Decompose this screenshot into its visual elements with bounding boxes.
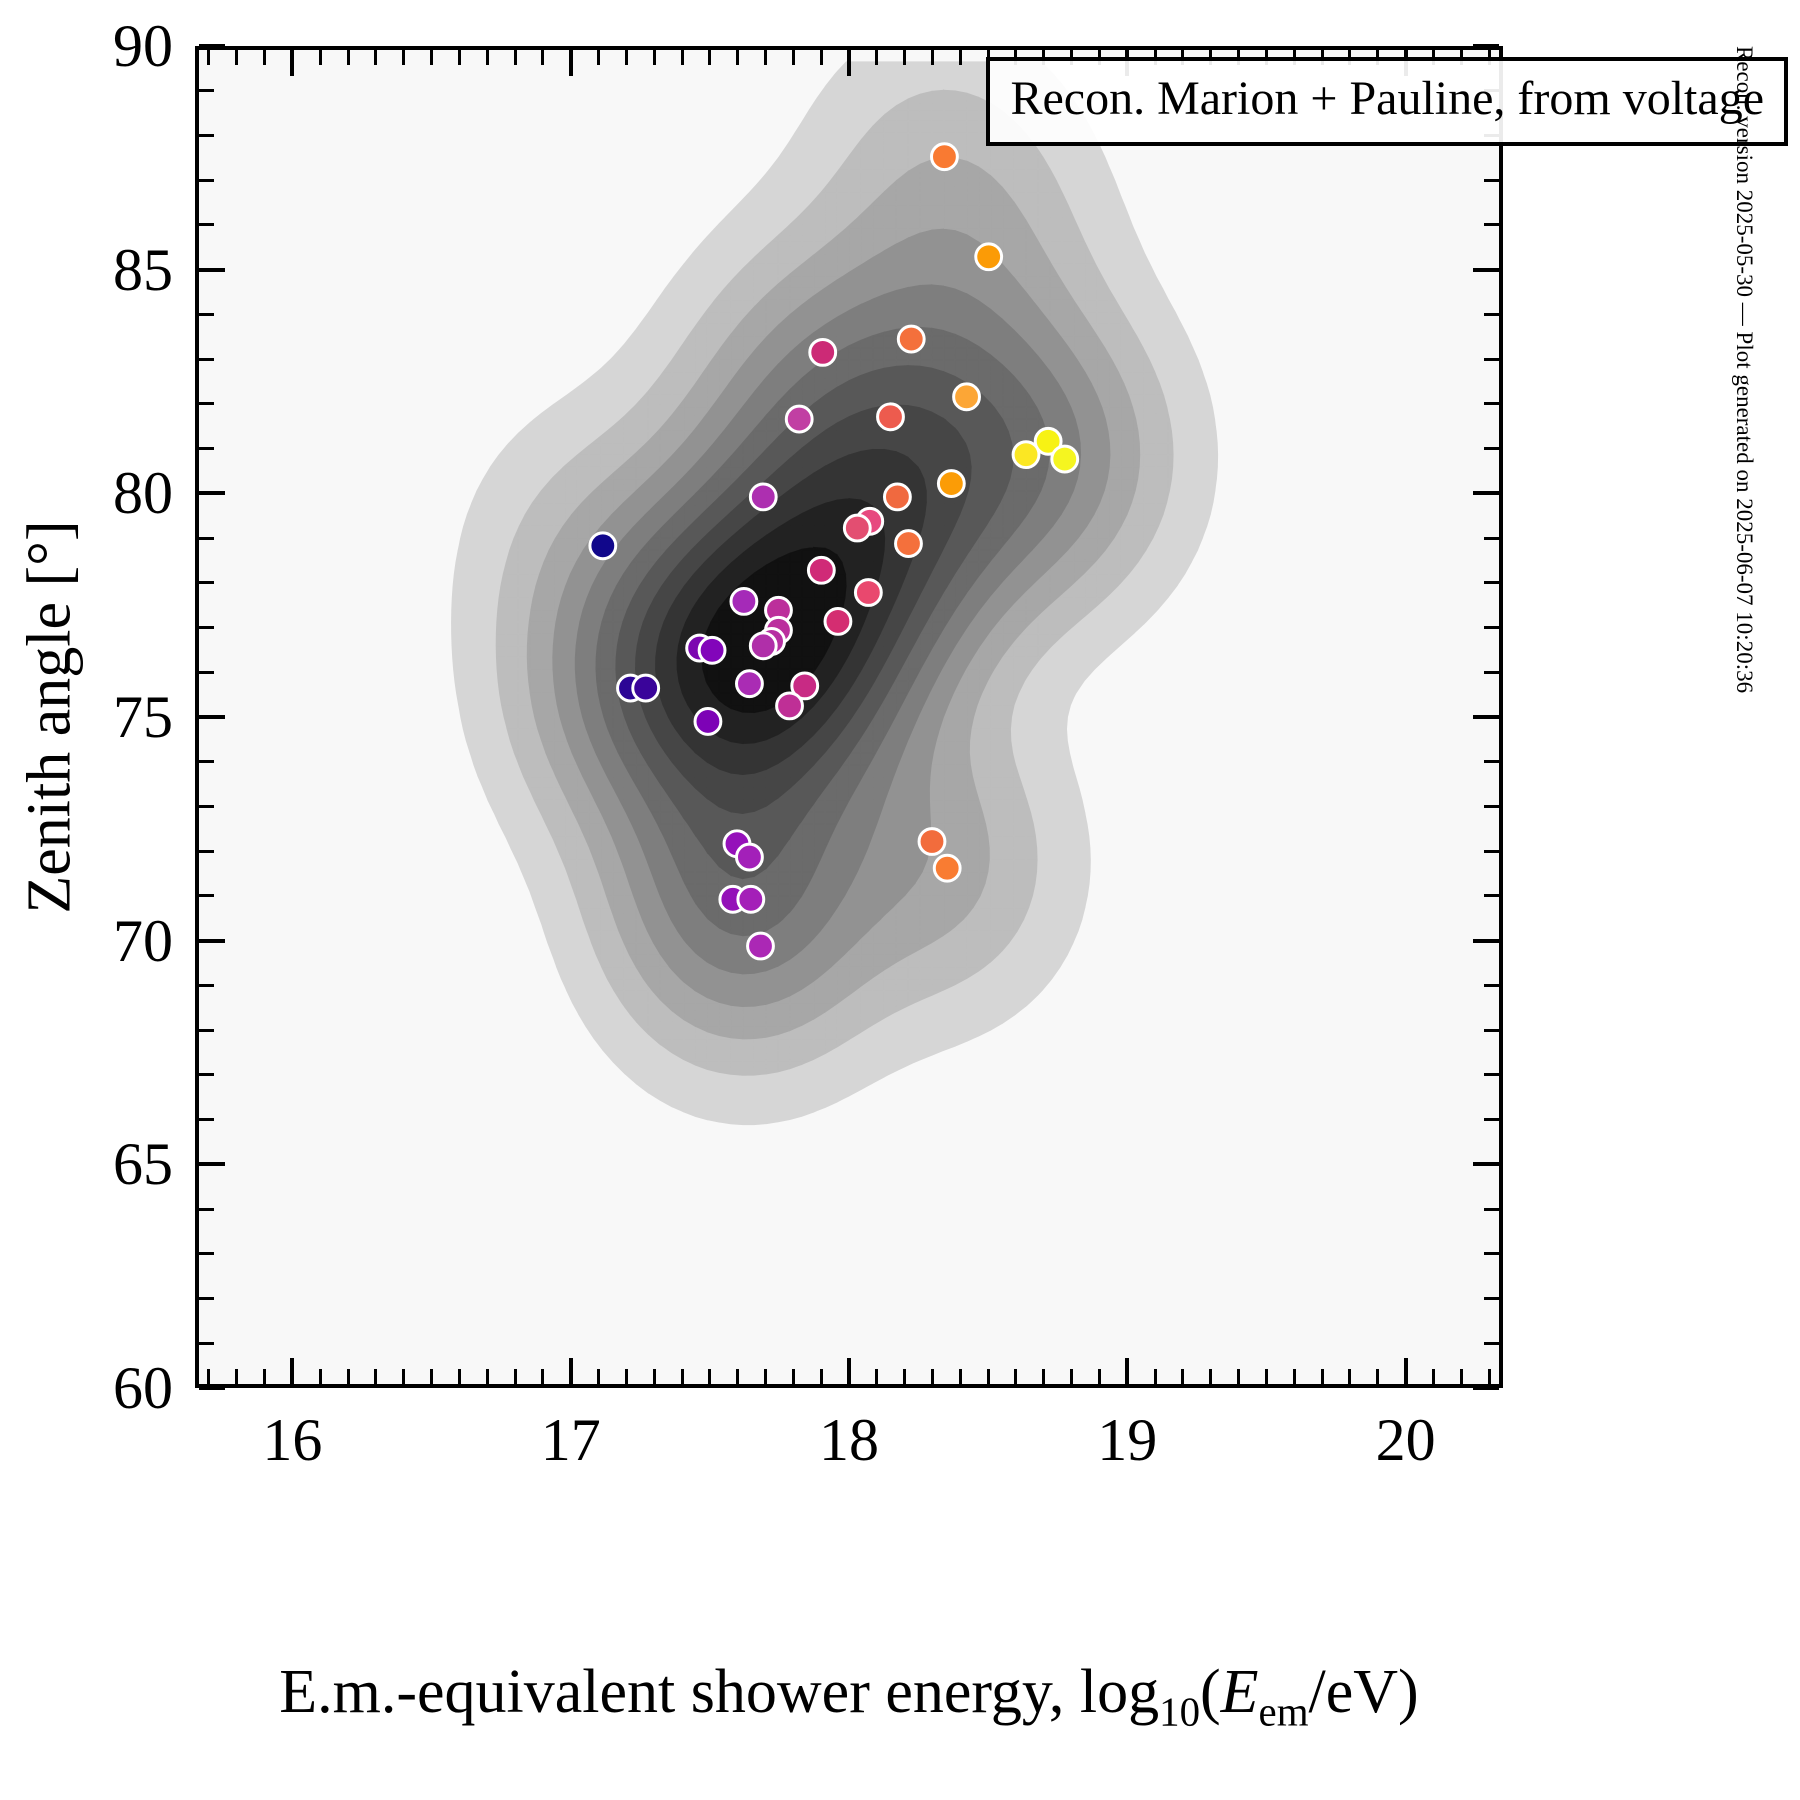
- x-tick-minor: [1265, 1369, 1268, 1384]
- scatter-point: [878, 404, 904, 430]
- x-tick-minor: [430, 1369, 433, 1384]
- x-tick-minor: [541, 1369, 544, 1384]
- y-tick-minor: [199, 1252, 214, 1255]
- y-tick-major: [199, 268, 225, 272]
- scatter-point: [954, 384, 980, 410]
- y-tick-minor: [199, 447, 214, 450]
- x-tick-minor: [987, 1369, 990, 1384]
- x-tick-minor: [653, 1369, 656, 1384]
- credit-container: Recon. version 2025-05-30 — Plot generat…: [1714, 46, 1774, 946]
- scatter-point: [1052, 446, 1078, 472]
- x-tick-minor: [263, 1369, 266, 1384]
- x-tick-minor-top: [708, 50, 711, 65]
- x-tick-minor-top: [319, 50, 322, 65]
- y-tick-major: [199, 939, 225, 943]
- x-tick-minor: [875, 1369, 878, 1384]
- y-tick-major: [199, 44, 225, 48]
- plot-area: [195, 46, 1503, 1388]
- scatter-point: [810, 339, 836, 365]
- x-tick-minor: [235, 1369, 238, 1384]
- x-tick-minor: [1042, 1369, 1045, 1384]
- scatter-point: [844, 515, 870, 541]
- y-tick-minor: [199, 89, 214, 92]
- x-tick-minor-top: [820, 50, 823, 65]
- x-tick-major: [290, 1358, 294, 1384]
- y-tick-minor-right: [1484, 179, 1499, 182]
- x-tick-minor-top: [875, 50, 878, 65]
- x-tick-major: [1404, 1358, 1408, 1384]
- x-tick-minor: [1376, 1369, 1379, 1384]
- scatter-point: [932, 144, 958, 170]
- x-tick-minor-top: [792, 50, 795, 65]
- x-tick-minor: [931, 1369, 934, 1384]
- y-tick-minor-right: [1484, 1208, 1499, 1211]
- x-tick-minor-top: [959, 50, 962, 65]
- y-tick-minor-right: [1484, 626, 1499, 629]
- x-tick-minor-top: [736, 50, 739, 65]
- y-tick-minor: [199, 223, 214, 226]
- x-tick-minor-top: [430, 50, 433, 65]
- y-tick-minor: [199, 358, 214, 361]
- x-tick-minor: [792, 1369, 795, 1384]
- scatter-point: [750, 633, 776, 659]
- x-tick-minor-top: [486, 50, 489, 65]
- y-tick-minor: [199, 626, 214, 629]
- scatter-point: [934, 855, 960, 881]
- y-tick-minor-right: [1484, 984, 1499, 987]
- y-tick-minor: [199, 1029, 214, 1032]
- y-tick-minor: [199, 537, 214, 540]
- y-tick-major-right: [1473, 1162, 1499, 1166]
- y-tick-minor-right: [1484, 1118, 1499, 1121]
- x-axis-label-energy-var: E: [1221, 1658, 1259, 1726]
- x-axis-label-open-paren: (: [1200, 1658, 1221, 1726]
- y-tick-minor: [199, 1073, 214, 1076]
- y-tick-minor-right: [1484, 313, 1499, 316]
- scatter-point: [884, 484, 910, 510]
- x-tick-minor-top: [347, 50, 350, 65]
- x-tick-minor-top: [541, 50, 544, 65]
- y-tick-major-right: [1473, 939, 1499, 943]
- y-tick-minor-right: [1484, 1252, 1499, 1255]
- y-tick-minor: [199, 850, 214, 853]
- legend-box: Recon. Marion + Pauline, from voltage: [986, 57, 1788, 146]
- y-tick-minor-right: [1484, 671, 1499, 674]
- y-tick-minor: [199, 313, 214, 316]
- x-tick-minor: [820, 1369, 823, 1384]
- y-tick-minor: [199, 894, 214, 897]
- x-tick-minor: [458, 1369, 461, 1384]
- x-tick-minor: [486, 1369, 489, 1384]
- figure-canvas: 606570758085901617181920 Recon. Marion +…: [0, 0, 1800, 1800]
- x-tick-minor: [1432, 1369, 1435, 1384]
- x-tick-minor: [1209, 1369, 1212, 1384]
- scatter-point: [808, 557, 834, 583]
- x-tick-major: [569, 1358, 573, 1384]
- y-tick-minor: [199, 805, 214, 808]
- x-tick-minor: [1181, 1369, 1184, 1384]
- y-tick-major: [199, 715, 225, 719]
- y-tick-major-right: [1473, 491, 1499, 495]
- y-tick-minor: [199, 1342, 214, 1345]
- x-tick-minor: [625, 1369, 628, 1384]
- scatter-point: [786, 406, 812, 432]
- y-axis-label-prefix: Zenith angle [: [16, 566, 84, 914]
- scatter-point: [590, 533, 616, 559]
- x-tick-major-top: [290, 50, 294, 76]
- x-axis-label-tail: /eV): [1309, 1658, 1419, 1726]
- x-tick-minor-top: [458, 50, 461, 65]
- x-tick-minor-top: [402, 50, 405, 65]
- x-tick-minor: [374, 1369, 377, 1384]
- scatter-point: [855, 580, 881, 606]
- y-tick-minor: [199, 402, 214, 405]
- scatter-point: [938, 471, 964, 497]
- y-axis-label-suffix: ]: [16, 520, 84, 541]
- x-tick-minor-top: [263, 50, 266, 65]
- x-axis-label-log-subscript: 10: [1159, 1689, 1200, 1734]
- y-tick-minor: [199, 134, 214, 137]
- x-tick-minor: [347, 1369, 350, 1384]
- y-tick-minor: [199, 581, 214, 584]
- x-tick-minor: [1488, 1369, 1491, 1384]
- x-tick-minor: [1293, 1369, 1296, 1384]
- y-tick-major-right: [1473, 1386, 1499, 1390]
- x-tick-minor: [959, 1369, 962, 1384]
- x-tick-major-top: [847, 50, 851, 76]
- scatter-point: [750, 484, 776, 510]
- x-tick-minor-top: [514, 50, 517, 65]
- scatter-point: [976, 244, 1002, 270]
- x-axis-label-prefix: E.m.-equivalent shower energy, log: [279, 1658, 1159, 1726]
- y-tick-minor-right: [1484, 402, 1499, 405]
- x-tick-minor-top: [681, 50, 684, 65]
- y-tick-minor: [199, 671, 214, 674]
- x-axis-label: E.m.-equivalent shower energy, log10(Eem…: [195, 1660, 1503, 1725]
- scatter-point: [919, 829, 945, 855]
- x-tick-minor: [1460, 1369, 1463, 1384]
- y-tick-minor: [199, 1118, 214, 1121]
- x-tick-minor: [1154, 1369, 1157, 1384]
- scatter-point: [695, 709, 721, 735]
- y-tick-minor: [199, 1208, 214, 1211]
- y-tick-minor-right: [1484, 894, 1499, 897]
- y-tick-minor: [199, 760, 214, 763]
- x-tick-minor-top: [764, 50, 767, 65]
- x-tick-label: 19: [1097, 1410, 1157, 1470]
- y-tick-minor-right: [1484, 1297, 1499, 1300]
- y-tick-minor-right: [1484, 223, 1499, 226]
- x-tick-minor: [514, 1369, 517, 1384]
- scatter-point: [633, 675, 659, 701]
- scatter-points-layer: [199, 50, 1499, 1384]
- scatter-point: [825, 608, 851, 634]
- y-tick-minor-right: [1484, 805, 1499, 808]
- scatter-point: [896, 531, 922, 557]
- x-tick-major: [1125, 1358, 1129, 1384]
- legend-label: Recon. Marion + Pauline, from voltage: [1010, 72, 1764, 125]
- y-tick-major-right: [1473, 715, 1499, 719]
- x-tick-minor: [681, 1369, 684, 1384]
- y-axis-label: Zenith angle [°]: [15, 520, 86, 913]
- x-tick-minor-top: [653, 50, 656, 65]
- y-tick-major: [199, 491, 225, 495]
- x-tick-minor-top: [597, 50, 600, 65]
- y-axis-label-container: Zenith angle [°]: [0, 46, 100, 1388]
- x-tick-minor-top: [207, 50, 210, 65]
- y-tick-minor-right: [1484, 850, 1499, 853]
- x-tick-minor: [764, 1369, 767, 1384]
- x-tick-label: 17: [541, 1410, 601, 1470]
- x-tick-minor: [708, 1369, 711, 1384]
- scatter-point: [898, 326, 924, 352]
- x-tick-minor: [207, 1369, 210, 1384]
- credit-text: Recon. version 2025-05-30 — Plot generat…: [1731, 46, 1757, 693]
- y-tick-minor-right: [1484, 1342, 1499, 1345]
- x-tick-label: 16: [262, 1410, 322, 1470]
- y-tick-minor-right: [1484, 581, 1499, 584]
- x-tick-minor-top: [374, 50, 377, 65]
- x-tick-minor: [736, 1369, 739, 1384]
- scatter-point: [1013, 442, 1039, 468]
- x-tick-minor: [1321, 1369, 1324, 1384]
- scatter-point: [737, 671, 763, 697]
- x-tick-minor: [597, 1369, 600, 1384]
- y-tick-minor: [199, 179, 214, 182]
- x-tick-minor: [1348, 1369, 1351, 1384]
- scatter-point: [738, 886, 764, 912]
- y-tick-minor: [199, 1297, 214, 1300]
- x-tick-minor-top: [235, 50, 238, 65]
- y-tick-minor-right: [1484, 447, 1499, 450]
- y-tick-minor-right: [1484, 1029, 1499, 1032]
- x-tick-minor: [903, 1369, 906, 1384]
- degree-symbol: °: [16, 541, 84, 566]
- y-tick-major: [199, 1162, 225, 1166]
- scatter-point: [731, 588, 757, 614]
- y-tick-minor: [199, 984, 214, 987]
- x-tick-minor-top: [903, 50, 906, 65]
- x-tick-major-top: [569, 50, 573, 76]
- x-tick-minor-top: [625, 50, 628, 65]
- scatter-point: [748, 933, 774, 959]
- y-tick-major: [199, 1386, 225, 1390]
- x-tick-label: 20: [1376, 1410, 1436, 1470]
- y-tick-minor-right: [1484, 1073, 1499, 1076]
- x-tick-label: 18: [819, 1410, 879, 1470]
- x-tick-major: [847, 1358, 851, 1384]
- x-tick-minor: [1098, 1369, 1101, 1384]
- scatter-point: [737, 844, 763, 870]
- x-tick-minor-top: [931, 50, 934, 65]
- y-tick-minor-right: [1484, 358, 1499, 361]
- x-axis-label-energy-subscript: em: [1259, 1689, 1309, 1734]
- scatter-point: [777, 693, 803, 719]
- x-tick-minor: [1237, 1369, 1240, 1384]
- x-tick-minor: [402, 1369, 405, 1384]
- y-tick-major-right: [1473, 268, 1499, 272]
- x-tick-minor: [1070, 1369, 1073, 1384]
- y-tick-minor-right: [1484, 537, 1499, 540]
- y-tick-minor-right: [1484, 760, 1499, 763]
- scatter-point: [699, 637, 725, 663]
- x-tick-minor: [1014, 1369, 1017, 1384]
- x-tick-minor: [319, 1369, 322, 1384]
- y-tick-major-right: [1473, 44, 1499, 48]
